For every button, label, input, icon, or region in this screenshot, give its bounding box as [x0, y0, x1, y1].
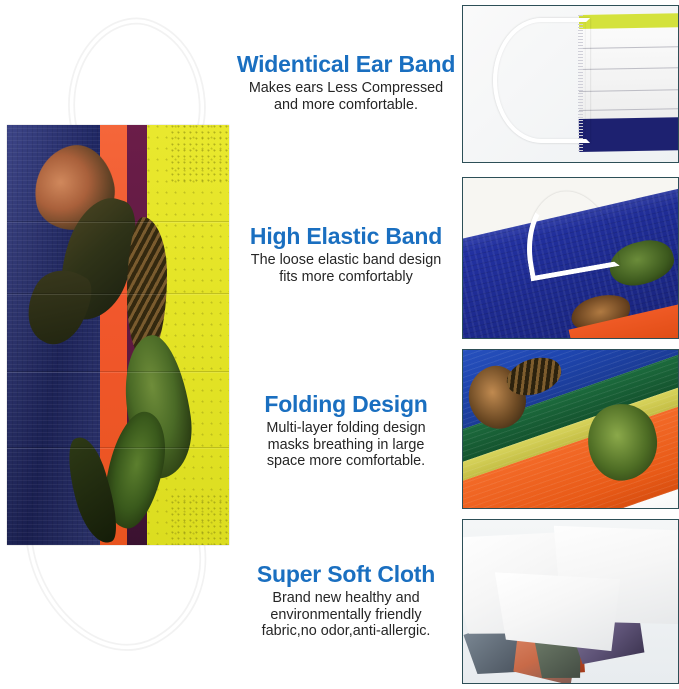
feature-heading: Widentical Ear Band	[236, 52, 456, 76]
feature-body-line: environmentally friendly	[270, 607, 421, 623]
feature-body-line: masks breathing in large	[268, 437, 425, 453]
feature-panel-soft-cloth	[462, 519, 679, 684]
hero-product-image	[0, 0, 232, 689]
mask-pleat-line	[7, 293, 229, 294]
feature-body-line: and more comfortable.	[274, 97, 418, 113]
feature-heading: Super Soft Cloth	[236, 562, 456, 586]
feature-block-soft-cloth: Super Soft Cloth Brand new healthy and e…	[232, 562, 460, 639]
infographic-page: Widentical Ear Band Makes ears Less Comp…	[0, 0, 679, 689]
feature-body-line: fabric,no odor,anti-allergic.	[262, 623, 431, 639]
feature-block-ear-band: Widentical Ear Band Makes ears Less Comp…	[232, 52, 460, 113]
feature-body: Brand new healthy and environmentally fr…	[236, 590, 456, 639]
ear-band-photo	[463, 6, 678, 162]
feature-heading: High Elastic Band	[236, 224, 456, 248]
feature-body: The loose elastic band design fits more …	[236, 252, 456, 285]
feature-panel-elastic-band	[462, 177, 679, 339]
feature-body: Multi-layer folding design masks breathi…	[236, 420, 456, 469]
feature-block-folding-design: Folding Design Multi-layer folding desig…	[232, 392, 460, 469]
feature-heading: Folding Design	[236, 392, 456, 416]
feature-panel-ear-band	[462, 5, 679, 163]
mask-pleat-line	[7, 371, 229, 372]
feature-body-line: Multi-layer folding design	[266, 420, 425, 436]
mask-front-view	[7, 125, 229, 545]
mask-perforation-dense-top	[171, 125, 229, 183]
feature-body-line: Makes ears Less Compressed	[249, 80, 443, 96]
feature-block-elastic-band: High Elastic Band The loose elastic band…	[232, 224, 460, 285]
mask-perforation-dense-bottom	[171, 495, 229, 545]
mask-pleat-line	[7, 447, 229, 448]
feature-body-line: Brand new healthy and	[272, 590, 419, 606]
feature-body: Makes ears Less Compressed and more comf…	[236, 80, 456, 113]
feature-body-line: The loose elastic band design	[251, 252, 441, 268]
feature-text-column: Widentical Ear Band Makes ears Less Comp…	[232, 0, 460, 689]
soft-cloth-photo	[463, 520, 678, 683]
feature-body-line: fits more comfortably	[279, 269, 413, 285]
mask-pleat-line	[7, 221, 229, 222]
ear-loop-icon	[493, 18, 590, 143]
feature-body-line: space more comfortable.	[267, 453, 425, 469]
folding-design-photo	[463, 350, 678, 508]
feature-panel-folding-design	[462, 349, 679, 509]
elastic-band-photo	[463, 178, 678, 338]
